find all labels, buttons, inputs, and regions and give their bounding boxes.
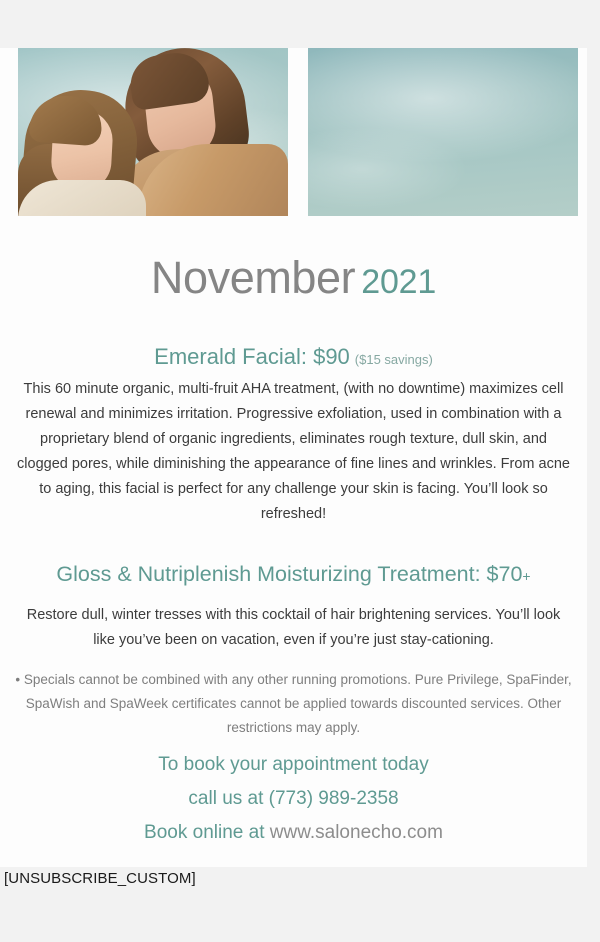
model-front-body [18,180,146,216]
hero-image-sky [308,48,578,216]
unsubscribe-link[interactable]: [UNSUBSCRIBE_CUSTOM] [4,870,196,887]
sky-backdrop-secondary [308,48,578,216]
booking-section: To book your appointment today call us a… [0,748,587,850]
booking-line-1: To book your appointment today [0,748,587,782]
service-1-title: Emerald Facial: $90 [154,344,350,369]
hero-image-row [18,48,578,216]
title-month: November [151,252,355,303]
hero-image-models [18,48,288,216]
service-2-heading: Gloss & Nutriplenish Moisturizing Treatm… [0,562,587,587]
service-1-heading: Emerald Facial: $90($15 savings) [0,344,587,370]
title-year: 2021 [361,263,436,301]
fine-print-disclaimer: • Specials cannot be combined with any o… [0,668,587,740]
booking-website-link[interactable]: www.salonecho.com [270,822,443,843]
page-title: November2021 [0,252,587,304]
service-1-description: This 60 minute organic, multi-fruit AHA … [0,377,587,527]
booking-online-prefix: Book online at [144,822,270,843]
service-2-title: Gloss & Nutriplenish Moisturizing Treatm… [56,562,522,586]
email-newsletter: November2021 Emerald Facial: $90($15 sav… [0,0,600,942]
booking-phone: call us at (773) 989-2358 [0,782,587,816]
booking-online-line: Book online at www.salonecho.com [0,816,587,850]
service-2-description: Restore dull, winter tresses with this c… [0,603,587,653]
service-1-savings-note: ($15 savings) [355,352,433,367]
service-2-title-suffix: + [522,568,530,584]
